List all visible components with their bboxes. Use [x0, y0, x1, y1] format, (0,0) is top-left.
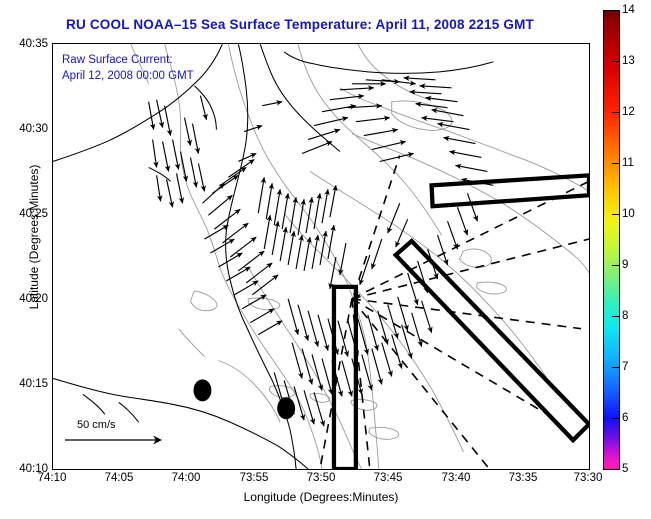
- colorbar-tick-label: 13: [622, 55, 635, 67]
- page-title: RU COOL NOAA–15 Sea Surface Temperature:…: [0, 17, 600, 32]
- station-marker: [277, 397, 295, 419]
- xtick-label: 73:50: [307, 472, 336, 484]
- colorbar-tick-label: 9: [622, 259, 628, 271]
- xtick-label: 73:40: [442, 472, 471, 484]
- y-axis-label: Latitude (Degrees:Minutes): [27, 117, 41, 357]
- colorbar-tick-label: 11: [622, 157, 634, 169]
- xtick-label: 73:35: [509, 472, 538, 484]
- colorbar-tick-label: 7: [622, 361, 628, 373]
- surface-current-vectors: [149, 78, 494, 426]
- colorbar-tick-label: 6: [622, 412, 628, 424]
- colorbar-gradient: [603, 10, 620, 470]
- ytick-label: 40:15: [19, 378, 48, 390]
- annotation-line-2: April 12, 2008 00:00 GMT: [62, 68, 194, 84]
- xtick-label: 73:45: [374, 472, 403, 484]
- annotation-line-1: Raw Surface Current:: [62, 52, 194, 68]
- colorbar-tick-label: 5: [622, 463, 628, 475]
- colorbar-tick-label: 14: [622, 4, 635, 16]
- map-canvas: [53, 44, 589, 469]
- xtick-label: 74:00: [172, 472, 201, 484]
- scale-bar: 50 cm/s: [61, 419, 181, 447]
- ytick-label: 40:10: [19, 463, 48, 475]
- colorbar-tick-label: 10: [622, 208, 635, 220]
- scale-bar-label: 50 cm/s: [77, 419, 181, 431]
- xtick-label: 74:05: [105, 472, 134, 484]
- x-axis-label: Longitude (Degrees:Minutes): [52, 490, 590, 504]
- annotation-text: Raw Surface Current: April 12, 2008 00:0…: [62, 52, 194, 84]
- xtick-label: 73:30: [574, 472, 603, 484]
- colorbar-tick-label: 12: [622, 106, 635, 118]
- sst-figure: RU COOL NOAA–15 Sea Surface Temperature:…: [0, 0, 651, 519]
- radial-fan-lines: [320, 155, 589, 469]
- station-marker: [193, 379, 211, 401]
- scale-bar-arrow-icon: [61, 433, 171, 447]
- xtick-label: 73:55: [240, 472, 269, 484]
- ytick-label: 40:35: [19, 38, 48, 50]
- bathymetry-contours: [131, 44, 589, 469]
- colorbar[interactable]: [603, 10, 620, 470]
- colorbar-tick-label: 8: [622, 310, 628, 322]
- map-plot-area[interactable]: Raw Surface Current: April 12, 2008 00:0…: [52, 43, 590, 470]
